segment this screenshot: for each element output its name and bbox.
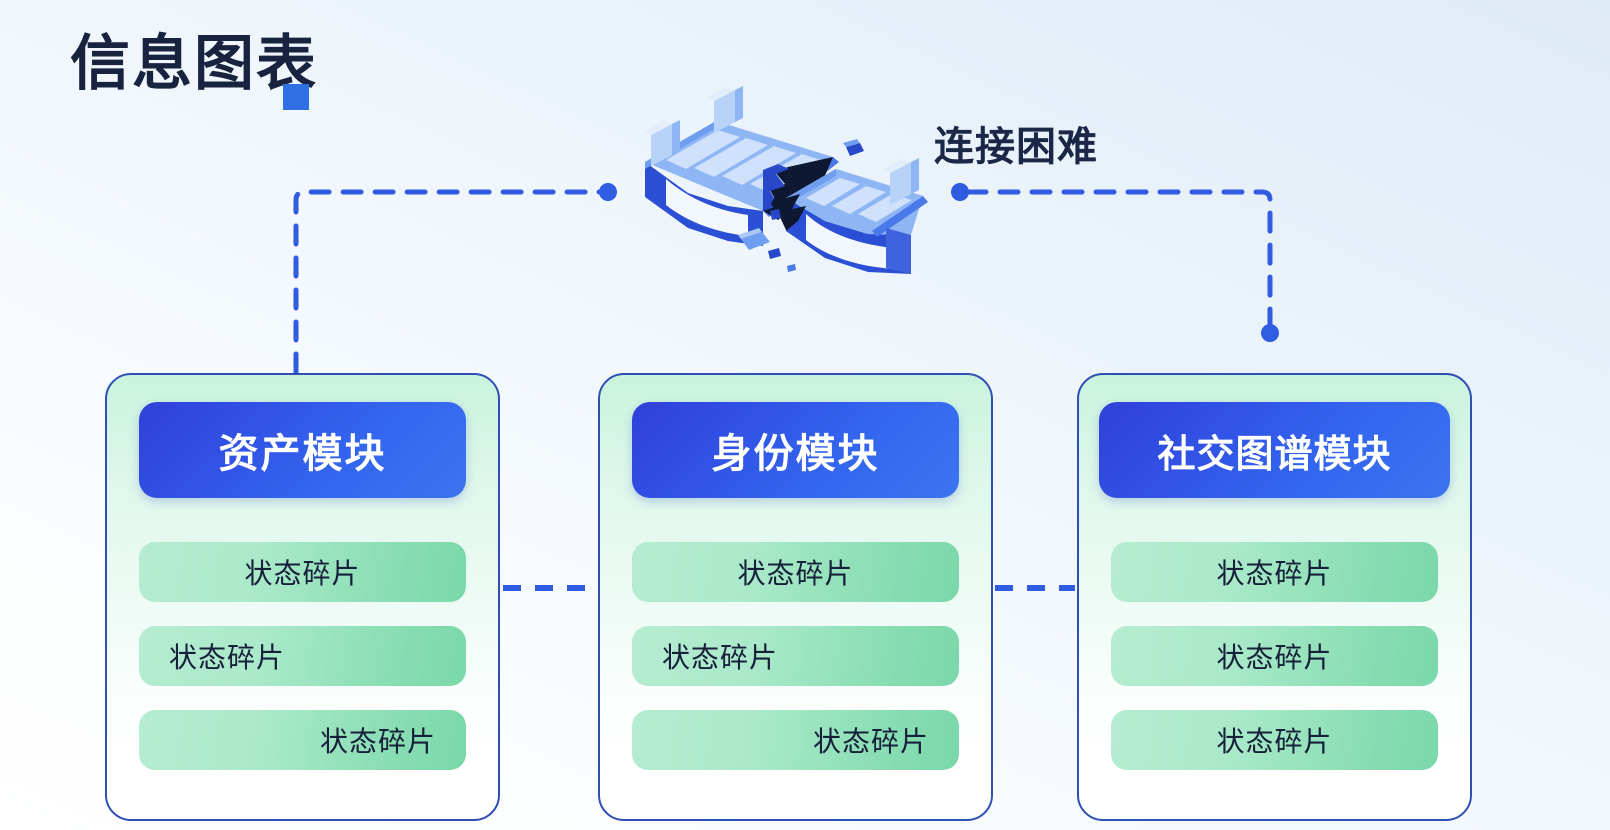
module-header-label: 身份模块 [712, 421, 880, 479]
title-accent-square [283, 84, 309, 110]
fragment-label: 状态碎片 [1216, 720, 1332, 760]
module-header-label: 社交图谱模块 [1157, 423, 1391, 478]
connector-dot-right-start [951, 183, 969, 201]
fragment-pill[interactable]: 状态碎片 [632, 710, 959, 770]
fragment-pill[interactable]: 状态碎片 [1111, 542, 1438, 602]
fragment-label: 状态碎片 [244, 552, 360, 592]
fragment-pill[interactable]: 状态碎片 [1111, 626, 1438, 686]
fragment-list-asset: 状态碎片 状态碎片 状态碎片 [139, 542, 466, 771]
broken-bridge-illustration [628, 78, 928, 293]
connection-difficulty-label: 连接困难 [934, 114, 1098, 172]
module-header-asset[interactable]: 资产模块 [139, 402, 466, 498]
infographic-canvas: 信息图表 [0, 0, 1610, 830]
module-header-social-graph[interactable]: 社交图谱模块 [1099, 402, 1450, 498]
fragment-label: 状态碎片 [1216, 636, 1332, 676]
fragment-label: 状态碎片 [813, 720, 929, 760]
fragment-label: 状态碎片 [737, 552, 853, 592]
connector-dot-left [599, 183, 617, 201]
module-header-identity[interactable]: 身份模块 [632, 402, 959, 498]
fragment-pill[interactable]: 状态碎片 [139, 710, 466, 770]
fragment-list-identity: 状态碎片 状态碎片 状态碎片 [632, 542, 959, 771]
fragment-label: 状态碎片 [1216, 552, 1332, 592]
fragment-label: 状态碎片 [662, 636, 778, 676]
module-card-social-graph[interactable]: 社交图谱模块 状态碎片 状态碎片 状态碎片 [1077, 373, 1472, 821]
fragment-pill[interactable]: 状态碎片 [1111, 710, 1438, 770]
module-header-label: 资产模块 [219, 421, 387, 479]
fragment-pill[interactable]: 状态碎片 [139, 626, 466, 686]
page-title: 信息图表 [70, 32, 318, 95]
module-card-identity[interactable]: 身份模块 状态碎片 状态碎片 状态碎片 [598, 373, 993, 821]
fragment-list-social-graph: 状态碎片 状态碎片 状态碎片 [1111, 542, 1438, 771]
fragment-label: 状态碎片 [169, 636, 285, 676]
fragment-pill[interactable]: 状态碎片 [139, 542, 466, 602]
connector-dot-right-end [1261, 324, 1279, 342]
module-card-asset[interactable]: 资产模块 状态碎片 状态碎片 状态碎片 [105, 373, 500, 821]
fragment-pill[interactable]: 状态碎片 [632, 626, 959, 686]
fragment-pill[interactable]: 状态碎片 [632, 542, 959, 602]
fragment-label: 状态碎片 [320, 720, 436, 760]
